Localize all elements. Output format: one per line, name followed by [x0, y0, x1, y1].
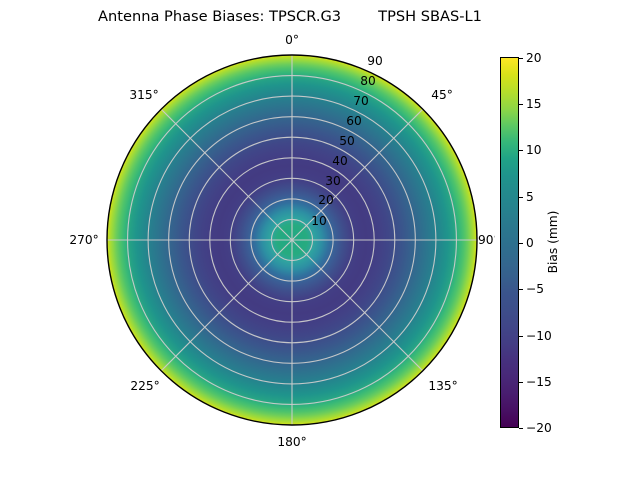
theta-tick-label-45: 45° — [431, 88, 453, 102]
chart-title: Antenna Phase Biases: TPSCR.G3 TPSH SBAS… — [0, 8, 580, 25]
colorbar-ticklabel-neg5: −5 — [526, 282, 544, 296]
colorbar-ticklabel-neg10: −10 — [526, 329, 552, 343]
r-tick-label-60: 60 — [346, 114, 362, 128]
r-tick-label-50: 50 — [339, 134, 355, 148]
colorbar-tick-5 — [519, 197, 523, 198]
colorbar-ticklabel-15: 15 — [526, 97, 542, 111]
r-tick-label-40: 40 — [332, 154, 348, 168]
colorbar-tick-neg10 — [519, 336, 523, 337]
theta-tick-label-180: 180° — [277, 435, 306, 449]
polar-plot-svg — [107, 55, 477, 425]
colorbar-tick-20 — [519, 58, 523, 59]
colorbar-gradient — [500, 57, 519, 428]
figure-canvas: Antenna Phase Biases: TPSCR.G3 TPSH SBAS… — [0, 0, 640, 480]
colorbar-ticklabel-10: 10 — [526, 143, 542, 157]
angular-gridlines — [107, 55, 477, 425]
r-tick-label-80: 80 — [360, 74, 376, 88]
theta-tick-label-225: 225° — [130, 379, 159, 393]
colorbar-ticklabel-neg15: −15 — [526, 375, 552, 389]
colorbar-ticklabel-0: 0 — [526, 236, 534, 250]
colorbar-tick-neg5 — [519, 289, 523, 290]
colorbar-tick-neg15 — [519, 382, 523, 383]
r-tick-label-10: 10 — [311, 214, 327, 228]
r-tick-label-30: 30 — [325, 174, 341, 188]
colorbar-tick-0 — [519, 243, 523, 244]
colorbar-ticklabel-neg20: −20 — [526, 421, 552, 435]
colorbar-axes[interactable]: 20 15 10 5 0 −5 −10 −15 −20 — [500, 57, 519, 428]
theta-tick-label-0: 0° — [285, 33, 299, 47]
theta-tick-label-135: 135° — [428, 379, 457, 393]
colorbar-axis-label: Bias (mm) — [546, 211, 560, 274]
colorbar-tick-neg20 — [519, 428, 523, 429]
theta-tick-label-90: 90° — [478, 233, 495, 247]
polar-axes[interactable]: 0° 45° 90° 135° 180° 225° 270° 315° 10 2… — [107, 55, 477, 425]
r-tick-label-20: 20 — [318, 193, 334, 207]
colorbar-tick-15 — [519, 104, 523, 105]
theta-tick-label-315: 315° — [129, 88, 158, 102]
colorbar-ticklabel-5: 5 — [526, 190, 534, 204]
colorbar-tick-10 — [519, 150, 523, 151]
theta-tick-label-270: 270° — [69, 233, 98, 247]
r-tick-label-70: 70 — [353, 94, 369, 108]
colorbar-ticklabel-20: 20 — [526, 51, 542, 65]
r-tick-label-90: 90 — [367, 54, 383, 68]
